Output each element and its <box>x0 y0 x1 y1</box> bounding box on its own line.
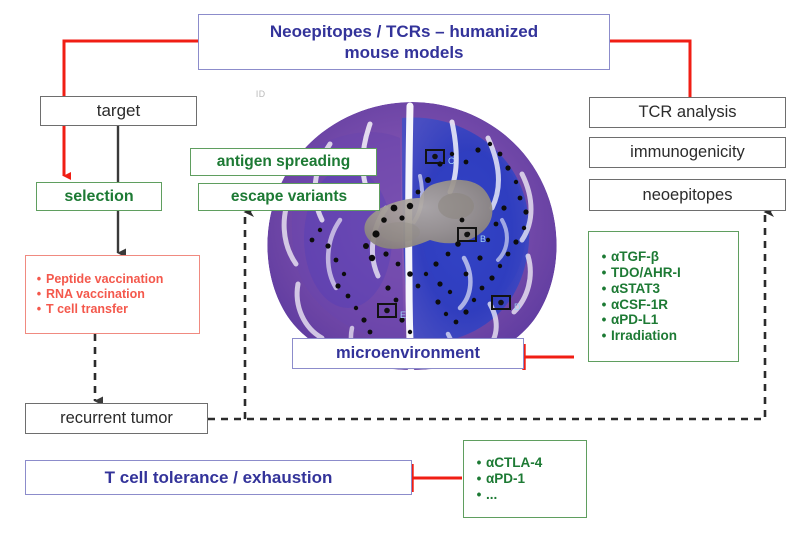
therapy-item: • Peptide vaccination <box>32 272 199 287</box>
drug-item: • αCSF-1R <box>597 297 738 313</box>
recurrent-tumor-box[interactable]: recurrent tumor <box>25 403 208 434</box>
brain-label-b: B <box>480 234 486 244</box>
brain-label-d: D <box>514 302 521 312</box>
header-line-1: Neoepitopes / TCRs – humanized <box>270 21 538 42</box>
selection-box[interactable]: selection <box>36 182 162 211</box>
tcr-analysis-label: TCR analysis <box>638 103 736 122</box>
bullet-dot: • <box>472 471 486 487</box>
checkpoint-item: • ... <box>472 487 586 503</box>
target-label: target <box>97 101 140 121</box>
tcr-analysis-box[interactable]: TCR analysis <box>589 97 786 128</box>
bullet-dot: • <box>472 455 486 471</box>
bullet-dot: • <box>597 297 611 313</box>
connector-header-to-tcr <box>610 41 690 97</box>
tolerance-label: T cell tolerance / exhaustion <box>105 468 333 488</box>
drug-item: • Irradiation <box>597 328 738 344</box>
therapies-box[interactable]: • Peptide vaccination • RNA vaccination … <box>25 255 200 334</box>
brain-label-e: E <box>400 310 406 320</box>
brain-label-c: C <box>448 156 455 166</box>
bullet-dot: • <box>32 302 46 317</box>
bullet-dot: • <box>597 312 611 328</box>
checkpoint-item: • αCTLA-4 <box>472 455 586 471</box>
antigen-spreading-box[interactable]: antigen spreading <box>190 148 377 176</box>
drug-item: • TDO/AHR-I <box>597 265 738 281</box>
bullet-dot: • <box>472 487 486 503</box>
diagram-canvas: ᴵᴰ <box>0 0 797 534</box>
escape-variants-label: escape variants <box>231 188 347 206</box>
immunogenicity-box[interactable]: immunogenicity <box>589 137 786 168</box>
header-line-2: mouse models <box>344 42 463 63</box>
neoepitopes-box[interactable]: neoepitopes <box>589 179 786 211</box>
bullet-dot: • <box>597 249 611 265</box>
bullet-dot: • <box>32 287 46 302</box>
tolerance-box[interactable]: T cell tolerance / exhaustion <box>25 460 412 495</box>
therapy-item: • T cell transfer <box>32 302 199 317</box>
drug-item: • αSTAT3 <box>597 281 738 297</box>
drug-item: • αTGF-β <box>597 249 738 265</box>
recurrent-tumor-label: recurrent tumor <box>60 409 173 428</box>
microenvironment-box[interactable]: microenvironment <box>292 338 524 369</box>
selection-label: selection <box>64 188 133 206</box>
bullet-dot: • <box>597 281 611 297</box>
header-box[interactable]: Neoepitopes / TCRs – humanized mouse mod… <box>198 14 610 70</box>
checkpoint-item: • αPD-1 <box>472 471 586 487</box>
connector-header-to-target <box>64 41 198 96</box>
bullet-dot: • <box>597 328 611 344</box>
microenvironment-label: microenvironment <box>336 344 480 363</box>
checkpoint-drugs-box[interactable]: • αCTLA-4 • αPD-1 • ... <box>463 440 587 518</box>
immunogenicity-label: immunogenicity <box>630 143 745 162</box>
neoepitopes-label: neoepitopes <box>643 186 733 205</box>
escape-variants-box[interactable]: escape variants <box>198 183 380 211</box>
antigen-spreading-label: antigen spreading <box>217 153 351 171</box>
target-box[interactable]: target <box>40 96 197 126</box>
bullet-dot: • <box>597 265 611 281</box>
drug-item: • αPD-L1 <box>597 312 738 328</box>
microenv-drugs-box[interactable]: • αTGF-β • TDO/AHR-I • αSTAT3 • αCSF-1R … <box>588 231 739 362</box>
bullet-dot: • <box>32 272 46 287</box>
therapy-item: • RNA vaccination <box>32 287 199 302</box>
